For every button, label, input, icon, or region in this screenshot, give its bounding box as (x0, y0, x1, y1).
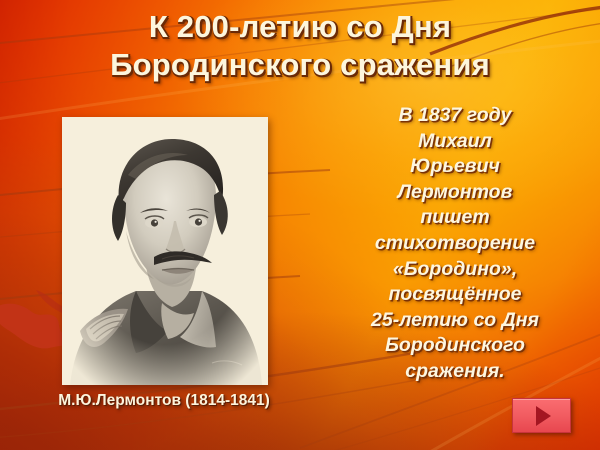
body-line: стихотворение (320, 231, 590, 257)
body-line: 25-летию со Дня (320, 308, 590, 334)
body-line: Бородинского (320, 333, 590, 359)
body-line: пишет (320, 205, 590, 231)
play-button[interactable] (512, 398, 571, 433)
slide-title: К 200-летию со Дня Бородинского сражения (0, 8, 600, 84)
body-line: «Бородино», (320, 257, 590, 283)
portrait-caption: М.Ю.Лермонтов (1814-1841) (14, 392, 314, 410)
body-line: Юрьевич (320, 154, 590, 180)
body-line: В 1837 году (320, 103, 590, 129)
body-line: Лермонтов (320, 180, 590, 206)
play-triangle-icon (536, 406, 551, 426)
slide-body-text: В 1837 году Михаил Юрьевич Лермонтов пиш… (320, 103, 590, 385)
body-line: посвящённое (320, 282, 590, 308)
body-line: Михаил (320, 129, 590, 155)
body-line: сражения. (320, 359, 590, 385)
presentation-slide: К 200-летию со Дня Бородинского сражения (0, 0, 600, 450)
lermontov-portrait (62, 117, 268, 385)
